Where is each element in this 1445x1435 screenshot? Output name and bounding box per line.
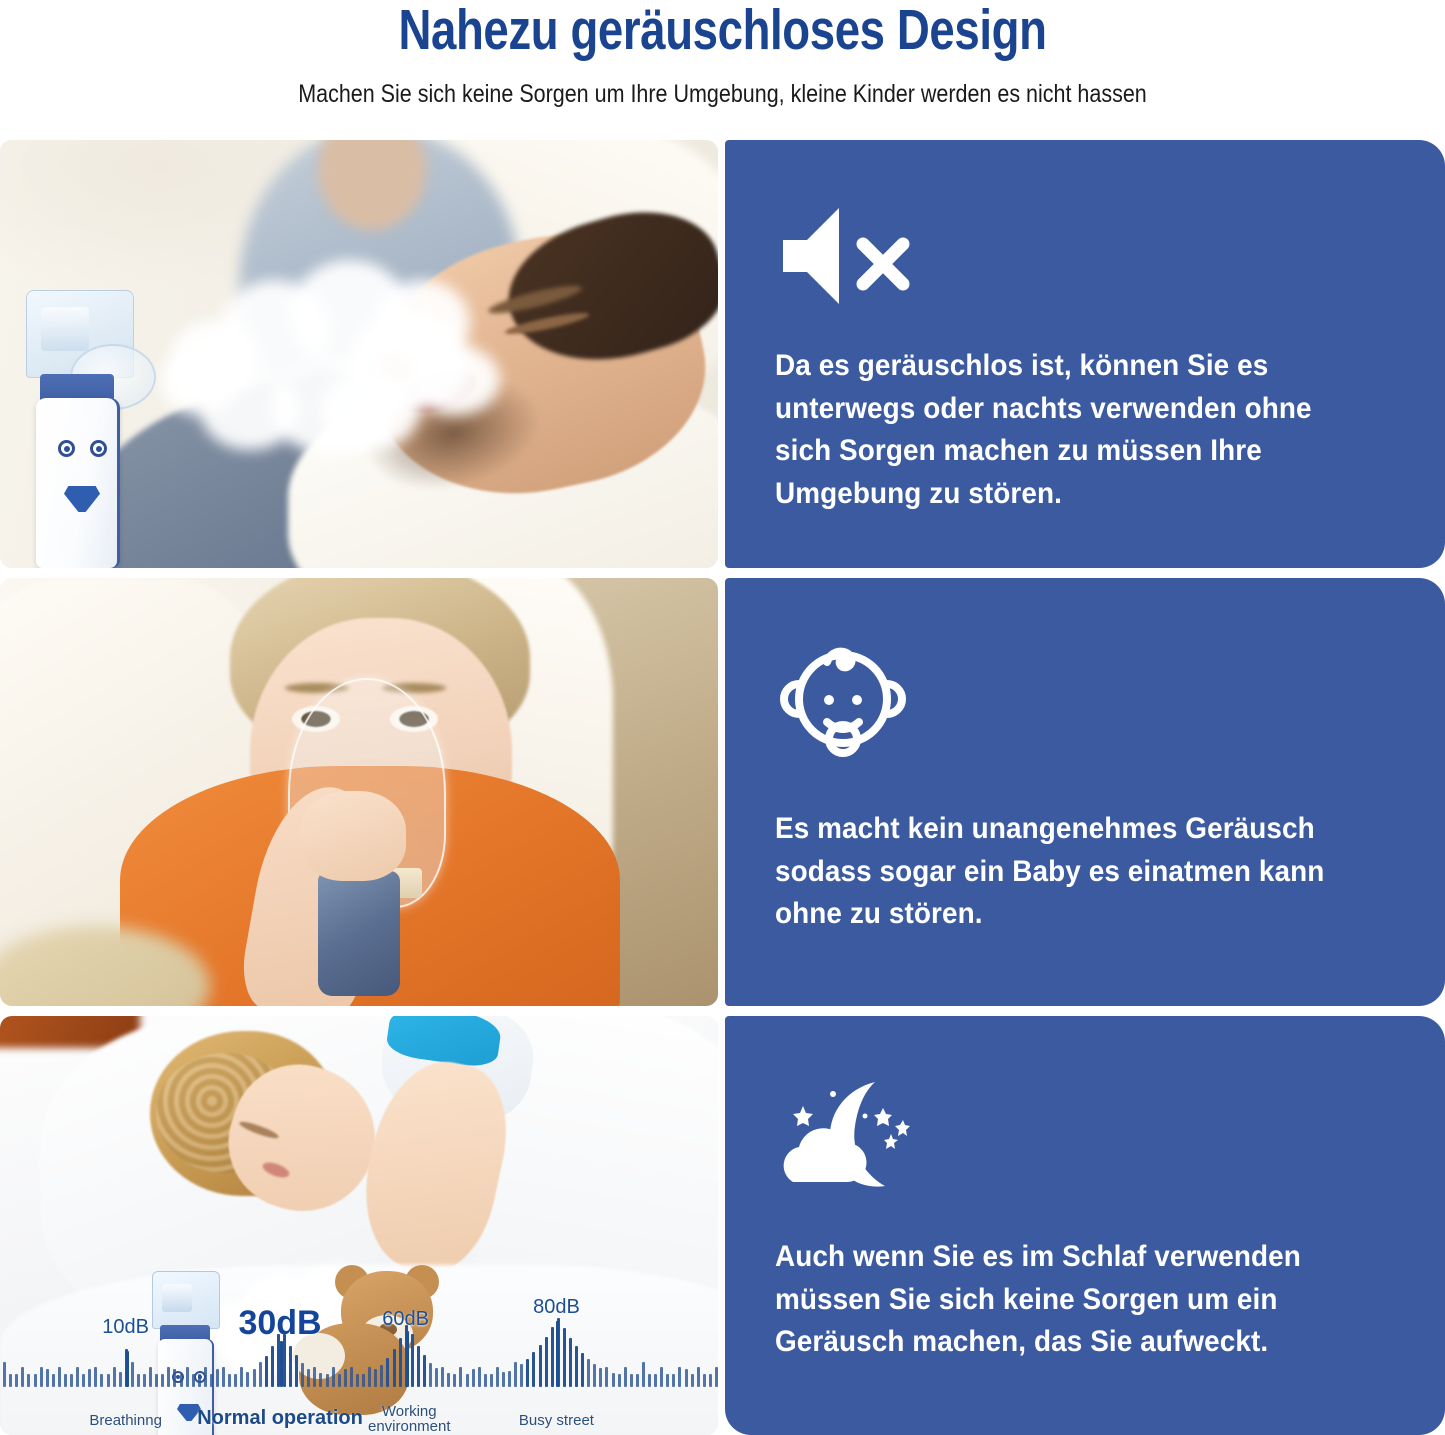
page-header: Nahezu geräuschloses Design Machen Sie s… [0,0,1445,132]
db-caption-working-environment: Workingenvironment [368,1404,451,1435]
feature-text-sleep: Auch wenn Sie es im Schlaf verwenden müs… [775,1236,1346,1364]
photo-sleeping-toddler-with-teddy: 10dB 30dB 60dB 80dB Breathinng Normal op… [0,1016,718,1435]
photo-boy-with-nebulizer-mask [0,578,718,1006]
feature-row-baby: Es macht kein unangenehmes Geräusch soda… [0,578,1445,1006]
device-face-eye-left [58,440,75,457]
db-caption-breathing: Breathinng [89,1413,162,1429]
feature-panel-baby: Es macht kein unangenehmes Geräusch soda… [725,578,1445,1006]
feature-row-sleep: 10dB 30dB 60dB 80dB Breathinng Normal op… [0,1016,1445,1435]
speaker-mute-icon [777,202,917,315]
feature-text-silent: Da es geräuschlos ist, können Sie es unt… [775,345,1346,515]
db-value-label-80: 80dB [533,1296,580,1319]
db-marker [556,1321,559,1387]
page-subtitle: Machen Sie sich keine Sorgen um Ihre Umg… [101,80,1344,109]
boy-hand [300,791,406,881]
nebulizer-handheld-unit [318,871,400,996]
feature-panel-sleep: Auch wenn Sie es im Schlaf verwenden müs… [725,1016,1445,1435]
page-title: Nahezu geräuschloses Design [145,0,1301,64]
db-marker [280,1341,283,1387]
photo-sleeping-man-with-nebulizer [0,140,718,568]
mist-vapor-cloud [160,250,510,480]
device-face-eye-right [90,440,107,457]
db-marker [126,1351,129,1387]
db-caption-normal-operation: Normal operation [197,1408,363,1429]
nebulizer-device [22,290,140,568]
feature-text-baby: Es macht kein unangenehmes Geräusch soda… [775,808,1346,936]
device-body [36,398,120,568]
baby-face-icon [777,638,909,765]
decibel-comparison-scale: 10dB 30dB 60dB 80dB Breathinng Normal op… [0,1305,718,1435]
feature-panel-silent: Da es geräuschlos ist, können Sie es unt… [725,140,1445,568]
moon-cloud-stars-icon [777,1078,917,1205]
feature-row-silent: Da es geräuschlos ist, können Sie es unt… [0,140,1445,568]
db-marker [406,1331,409,1387]
db-caption-busy-street: Busy street [519,1413,594,1429]
db-waveform-ticks [0,1329,718,1387]
